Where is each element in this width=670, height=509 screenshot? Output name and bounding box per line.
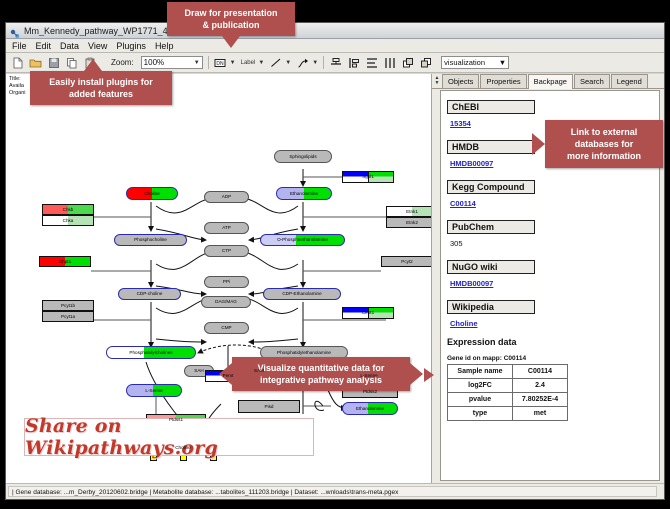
visualization-value: visualization <box>444 58 485 67</box>
node-label: Etnk2 <box>406 220 418 226</box>
node-ethanolamine-top[interactable]: Ethanolamine <box>276 187 332 200</box>
node-ctp[interactable]: CTP <box>204 245 249 257</box>
callout-external-databases: Link to external databases for more info… <box>545 120 663 168</box>
status-bar: | Gene database: ...m_Derby_20120602.bri… <box>6 483 664 499</box>
cell-label: pvalue <box>448 393 513 407</box>
toolbar-separator <box>208 56 209 69</box>
menubar: File Edit Data View Plugins Help <box>6 39 664 53</box>
callout-visualize-right-arrow-icon <box>410 363 423 385</box>
node-label: Pemt <box>223 373 234 379</box>
status-bar-text: | Gene database: ...m_Derby_20120602.bri… <box>8 486 657 497</box>
label-dropdown-arrow[interactable]: ▼ <box>258 60 264 66</box>
node-label: Ptdss2 <box>363 389 377 395</box>
node-pisd[interactable]: Pisd <box>238 400 300 413</box>
wikipedia-header: Wikipedia <box>447 300 535 314</box>
node-label: ATP <box>222 225 231 231</box>
pubchem-value: 305 <box>450 239 659 248</box>
cell-label: type <box>448 407 513 421</box>
node-label: Sphingolipids <box>289 154 316 160</box>
distribute-vertical-icon[interactable] <box>365 56 378 69</box>
node-phosphocholine[interactable]: Phosphocholine <box>114 234 187 246</box>
cell-value: met <box>513 407 568 421</box>
side-panel-tabs: Objects Properties Backpage Search Legen… <box>432 74 664 89</box>
table-row: type met <box>448 407 568 421</box>
datanode-dropdown-arrow[interactable]: ▼ <box>230 60 236 66</box>
table-row: pvalue 7.80252E-4 <box>448 393 568 407</box>
node-label: Pcyt1a <box>61 314 75 320</box>
callout-draw-line1: Draw for presentation <box>184 7 277 19</box>
menu-edit[interactable]: Edit <box>36 41 52 51</box>
node-dagmag[interactable]: DAG/MAG <box>201 296 251 308</box>
cell-value: 2.4 <box>513 379 568 393</box>
node-label: Ethanolamine <box>356 406 384 412</box>
hmdb-header: HMDB <box>447 140 535 154</box>
expression-data-title: Expression data <box>447 337 659 347</box>
menu-help[interactable]: Help <box>155 41 174 51</box>
callout-draw-line2: & publication <box>184 19 277 31</box>
tab-search[interactable]: Search <box>574 74 610 88</box>
node-label: CDP-Ethanolamine <box>282 291 321 297</box>
node-label: SAM <box>254 368 264 374</box>
node-label: Ptdss1 <box>169 417 183 423</box>
node-label: L-Serine <box>145 388 162 394</box>
node-label: Etnk1 <box>406 209 418 215</box>
node-label: Pcyt2 <box>401 259 413 265</box>
tab-legend[interactable]: Legend <box>611 74 648 88</box>
node-label: CDP-choline <box>137 291 163 297</box>
node-label: O-Phosphoethanolamine <box>277 237 328 243</box>
distribute-horizontal-icon[interactable] <box>383 56 396 69</box>
node-label: PPi <box>223 279 230 285</box>
callout-install-plugins: Easily install plugins for added feature… <box>30 71 172 105</box>
node-ppi[interactable]: PPi <box>204 276 249 288</box>
callout-share-wikipathways: Share on Wikipathways.org <box>24 418 314 456</box>
node-sphingolipids[interactable]: Sphingolipids <box>274 150 332 163</box>
node-label: CTP <box>222 248 231 254</box>
interaction-dropdown-arrow[interactable]: ▼ <box>312 60 318 66</box>
expression-data-table: Sample name C00114 log2FC 2.4 pvalue 7.8… <box>447 364 568 421</box>
node-label: Pisd <box>265 404 274 410</box>
tab-objects[interactable]: Objects <box>442 74 479 88</box>
node-ethanolamine-bottom[interactable]: Ethanolamine <box>342 402 398 415</box>
screenshot-root: Mm_Kennedy_pathway_WP1771_45176.gpml Fil… <box>0 0 670 509</box>
line-dropdown-arrow[interactable]: ▼ <box>285 60 291 66</box>
node-chpt1[interactable]: Chpt1 <box>39 256 91 267</box>
expression-data-pointer-icon <box>424 368 434 382</box>
callout-visualize-data: Visualize quantitative data for integrat… <box>232 357 410 391</box>
copy-icon[interactable] <box>65 56 78 69</box>
node-label: DAG/MAG <box>215 299 237 305</box>
tab-properties[interactable]: Properties <box>480 74 526 88</box>
kegg-compound-link[interactable]: C00114 <box>450 199 659 208</box>
label-tool-text[interactable]: Label <box>241 60 256 66</box>
zoom-value: 100% <box>144 58 164 67</box>
callout-link-line3: more information <box>567 150 641 162</box>
svg-text:DN: DN <box>217 61 225 67</box>
node-pcyt1a[interactable]: Pcyt1a <box>42 311 94 322</box>
nugo-wiki-header: NuGO wiki <box>447 260 535 274</box>
menu-data[interactable]: Data <box>60 41 79 51</box>
interaction-tool-icon[interactable] <box>296 56 309 69</box>
node-label: Choline <box>144 191 160 197</box>
toolbar: Zoom: 100% ▼ DN ▼ Label ▼ ▼ ▼ <box>6 53 664 73</box>
callout-plugins-arrow-icon <box>84 59 102 71</box>
menu-view[interactable]: View <box>88 41 107 51</box>
line-tool-icon[interactable] <box>269 56 282 69</box>
node-o-phosphoethanolamine[interactable]: O-Phosphoethanolamine <box>260 234 345 246</box>
gene-id-on-mapp: Gene id on mapp: C00114 <box>447 355 659 362</box>
callout-link-line1: Link to external <box>567 126 641 138</box>
callout-plugins-line1: Easily install plugins for <box>49 76 153 88</box>
node-cdp-choline[interactable]: CDP-choline <box>118 288 181 300</box>
chevron-down-icon-2: ▼ <box>499 58 506 67</box>
open-file-icon[interactable] <box>29 56 42 69</box>
node-choline-top[interactable]: Choline <box>126 187 178 200</box>
node-chka[interactable]: Chka <box>42 215 94 226</box>
table-row: log2FC 2.4 <box>448 379 568 393</box>
window-titlebar: Mm_Kennedy_pathway_WP1771_45176.gpml <box>6 23 664 39</box>
datanode-icon[interactable]: DN <box>214 56 227 69</box>
node-adp[interactable]: ADP <box>204 191 249 203</box>
tab-backpage[interactable]: Backpage <box>528 74 573 89</box>
menu-plugins[interactable]: Plugins <box>116 41 146 51</box>
node-cdp-ethanolamine[interactable]: CDP-Ethanolamine <box>263 288 341 300</box>
node-chkb[interactable]: Chkb <box>42 204 94 215</box>
node-label: CMP <box>221 325 231 331</box>
callout-draw-arrow-icon <box>222 36 240 48</box>
node-label: Phosphatidylethanolamine <box>277 350 331 356</box>
node-label: Phosphocholine <box>134 237 167 243</box>
node-label: Pcyt1b <box>61 303 75 309</box>
zoom-label: Zoom: <box>111 58 134 67</box>
node-label: Phosphatidylcholines <box>129 350 172 356</box>
node-label: L-Serine <box>360 373 377 379</box>
node-label: SAH <box>194 368 203 374</box>
node-label: Chka <box>63 218 74 224</box>
zoom-combobox[interactable]: 100% ▼ <box>141 56 203 69</box>
node-label: Chkb <box>63 207 74 213</box>
new-file-icon[interactable] <box>11 56 24 69</box>
callout-plugins-line2: added features <box>49 88 153 100</box>
cell-label: log2FC <box>448 379 513 393</box>
cell-value: C00114 <box>513 365 568 379</box>
send-to-back-icon[interactable] <box>419 56 432 69</box>
align-left-icon[interactable] <box>347 56 360 69</box>
node-cmp[interactable]: CMP <box>204 322 249 334</box>
bring-to-front-icon[interactable] <box>401 56 414 69</box>
node-label: Sgpl1 <box>362 174 374 180</box>
table-row: Sample name C00114 <box>448 365 568 379</box>
chevron-down-icon: ▼ <box>194 60 200 66</box>
cell-value: 7.80252E-4 <box>513 393 568 407</box>
nugo-wiki-link[interactable]: HMDB00097 <box>450 279 659 288</box>
tab-scroll-arrows[interactable]: ▲▼ <box>434 76 440 88</box>
pubchem-header: PubChem <box>447 220 535 234</box>
callout-draw-for-publication: Draw for presentation & publication <box>167 2 295 36</box>
visualization-combobox[interactable]: visualization ▼ <box>441 56 509 69</box>
kegg-compound-header: Kegg Compound <box>447 180 535 194</box>
node-label: Choline <box>175 445 191 451</box>
cell-label: Sample name <box>448 365 513 379</box>
save-file-icon[interactable] <box>47 56 60 69</box>
node-l-serine-left[interactable]: L-Serine <box>126 384 182 397</box>
wikipedia-link[interactable]: Choline <box>450 319 659 328</box>
node-label: Cept1 <box>362 310 374 316</box>
chebi-header: ChEBI <box>447 100 535 114</box>
callout-link-line2: databases for <box>567 138 641 150</box>
menu-file[interactable]: File <box>12 41 27 51</box>
node-atp[interactable]: ATP <box>204 222 249 234</box>
node-pcyt2[interactable]: Pcyt2 <box>381 256 432 267</box>
node-label: ADP <box>222 194 231 200</box>
node-label: Ethanolamine <box>290 191 318 197</box>
node-label: Chpt1 <box>59 259 71 265</box>
node-etnk2[interactable]: Etnk2 <box>386 217 432 228</box>
align-center-icon[interactable] <box>329 56 342 69</box>
toolbar-separator-2 <box>323 56 324 69</box>
node-etnk1[interactable]: Etnk1 <box>386 206 432 217</box>
node-pcyt1b[interactable]: Pcyt1b <box>42 300 94 311</box>
pathvisio-icon <box>10 26 20 36</box>
callout-link-arrow-icon <box>532 133 545 155</box>
node-phosphatidylcholines[interactable]: Phosphatidylcholines <box>106 346 196 359</box>
